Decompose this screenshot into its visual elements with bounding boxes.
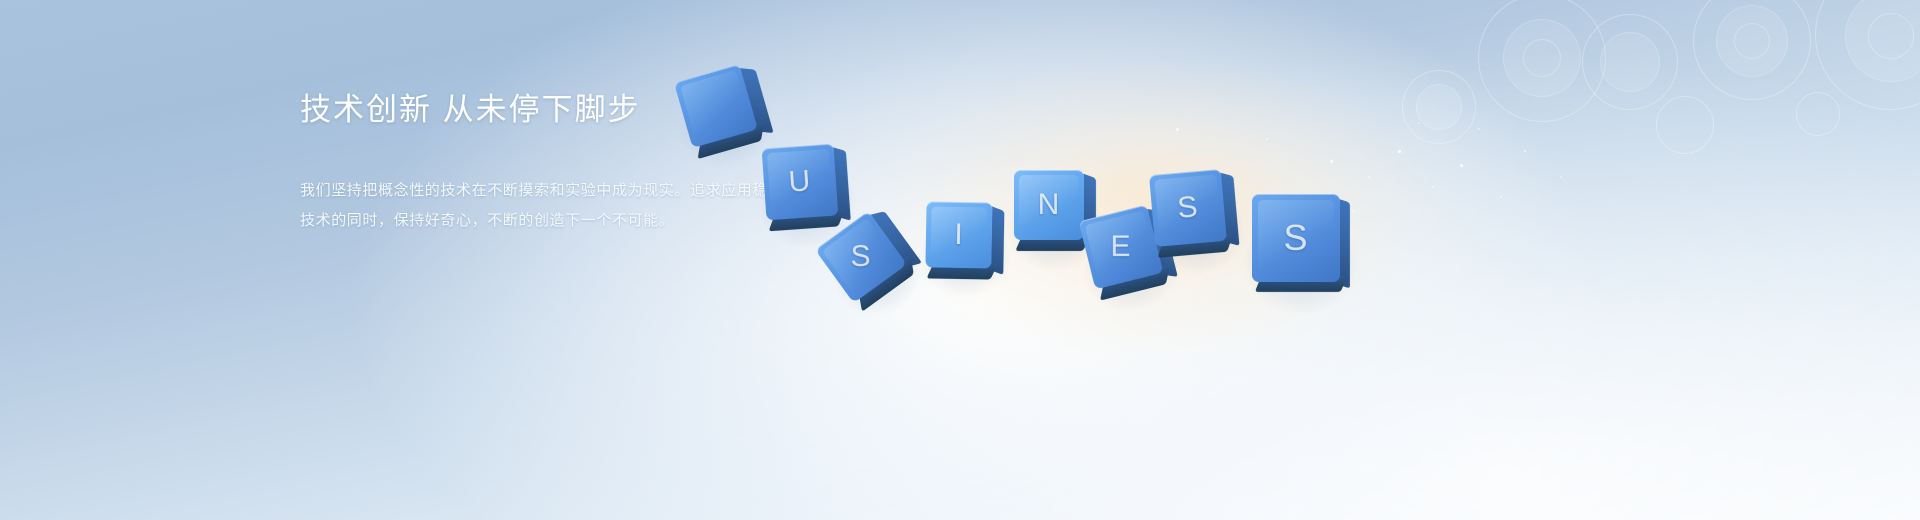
keycap-i: I: [925, 201, 992, 268]
hero-banner: 技术创新 从未停下脚步 我们坚持把概念性的技术在不断摸索和实验中成为现实。追求应…: [0, 0, 1920, 520]
keycap-s1: S: [815, 211, 907, 303]
keycap-letter: S: [1149, 169, 1227, 247]
keycap-group: U S I: [0, 0, 1920, 520]
keycap-face: S: [1252, 194, 1340, 282]
keycap-letter: S: [828, 224, 894, 290]
keycap-face: I: [925, 201, 992, 268]
keycap-s3: S: [1252, 194, 1340, 282]
keycap-letter: U: [762, 144, 839, 221]
keycap-letter: S: [1252, 194, 1340, 282]
keycap-b: [674, 64, 758, 148]
keycap-face: U: [762, 144, 839, 221]
keycap-n: N: [1014, 170, 1084, 240]
keycap-letter: I: [925, 201, 992, 268]
keycap-face: S: [1149, 169, 1227, 247]
keycap-u: U: [762, 144, 839, 221]
keycap-s2: S: [1149, 169, 1227, 247]
keycap-face: S: [815, 211, 907, 303]
keycap-letter: N: [1014, 170, 1084, 240]
keycap-face: N: [1014, 170, 1084, 240]
